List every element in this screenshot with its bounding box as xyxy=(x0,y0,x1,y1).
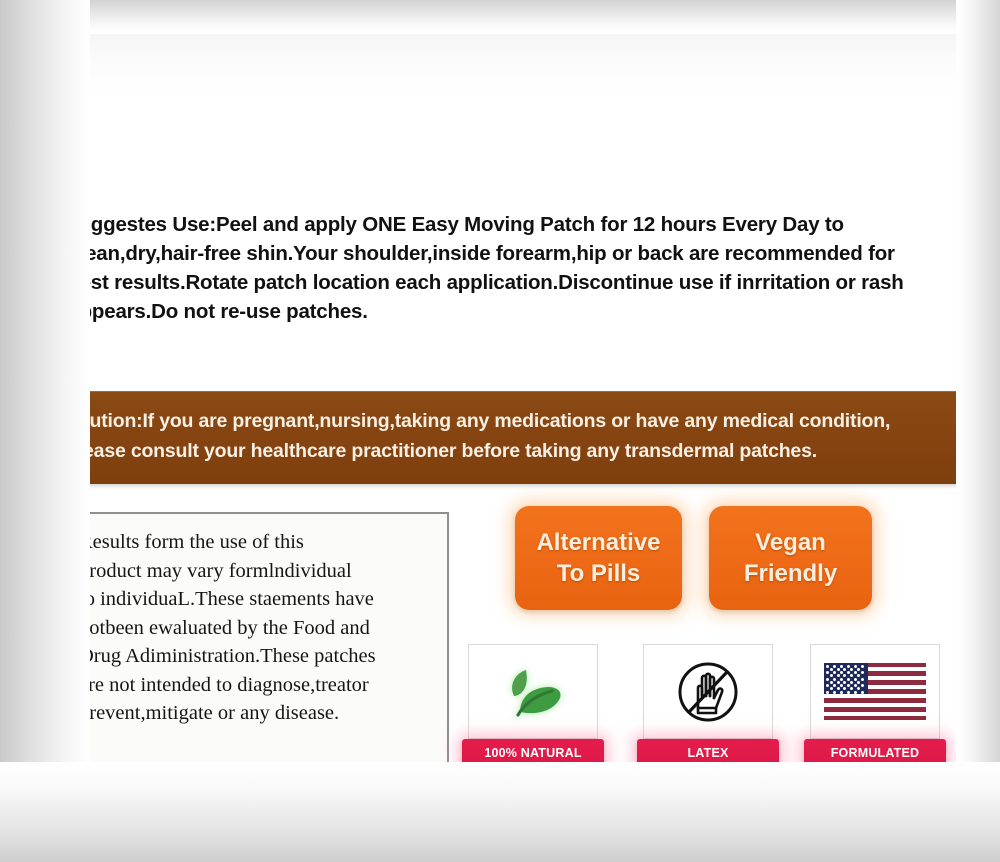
flag-star xyxy=(840,678,843,681)
label-paper: Suggestes Use:Peel and apply ONE Easy Mo… xyxy=(25,24,977,814)
flag-star xyxy=(857,681,860,684)
flag-star xyxy=(826,665,829,668)
flag-star xyxy=(854,691,857,694)
cert-banner-latex-free: LATEX FREE xyxy=(637,739,779,783)
flag-star xyxy=(857,668,860,671)
flag-stripe xyxy=(824,707,926,711)
product-label-photo: Suggestes Use:Peel and apply ONE Easy Mo… xyxy=(0,0,1000,862)
flag-star xyxy=(833,678,836,681)
flag-star xyxy=(833,665,836,668)
flag-star xyxy=(861,691,864,694)
flag-stripe xyxy=(824,716,926,720)
paper-sheen xyxy=(25,24,977,94)
suggested-use-line-1: Suggestes Use:Peel and apply ONE Easy Mo… xyxy=(65,210,955,239)
caution-line-2: Please consult your healthcare practitio… xyxy=(65,436,970,466)
cert-usa-line-2: IN THE USA xyxy=(839,761,912,777)
flag-star xyxy=(833,691,836,694)
flag-star xyxy=(826,684,829,687)
badge-vegan-friendly-line-1: Vegan xyxy=(755,527,826,558)
caution-text: Caution:If you are pregnant,nursing,taki… xyxy=(65,406,970,466)
flag-star xyxy=(843,668,846,671)
flag-star xyxy=(843,674,846,677)
paper-showthrough-ghost-text xyxy=(103,726,403,760)
flag-canton xyxy=(824,663,868,694)
cert-badge-formulated-in-usa: FORMULATED IN THE USA xyxy=(810,644,940,783)
flag-star xyxy=(830,687,833,690)
flag-star xyxy=(847,678,850,681)
caution-line-1: Caution:If you are pregnant,nursing,taki… xyxy=(65,406,970,436)
flag-star xyxy=(854,671,857,674)
flag-star xyxy=(861,671,864,674)
cert-badge-natural-ingredients: 100% NATURAL INGREDIENTS xyxy=(468,644,598,783)
flag-star xyxy=(826,678,829,681)
badge-vegan-friendly: Vegan Friendly xyxy=(709,506,872,610)
flag-star xyxy=(837,674,840,677)
disclaimer-box: Results form the use of this product may… xyxy=(61,512,449,778)
flag-star xyxy=(840,691,843,694)
disclaimer-line-4: notbeen ewaluated by the Food and xyxy=(79,614,439,643)
flag-star xyxy=(826,671,829,674)
flag-star xyxy=(850,668,853,671)
flag-star xyxy=(833,684,836,687)
suggested-use-line-4: Appears.Do not re-use patches. xyxy=(65,297,955,326)
flag-star xyxy=(854,684,857,687)
flag-star xyxy=(843,681,846,684)
flag-star xyxy=(854,665,857,668)
leaf-icon xyxy=(496,662,570,722)
flag-star xyxy=(837,681,840,684)
cert-card-natural-ingredients xyxy=(468,644,598,739)
flag-star xyxy=(830,668,833,671)
cert-banner-formulated-in-usa: FORMULATED IN THE USA xyxy=(804,739,946,783)
flag-star xyxy=(861,684,864,687)
cert-latex-line-2: FREE xyxy=(691,761,725,777)
flag-star xyxy=(840,665,843,668)
flag-star xyxy=(854,678,857,681)
cert-natural-line-2: INGREDIENTS xyxy=(489,761,577,777)
badge-vegan-friendly-line-2: Friendly xyxy=(744,558,837,589)
flag-star xyxy=(837,668,840,671)
flag-star xyxy=(830,681,833,684)
flag-star xyxy=(843,687,846,690)
flag-star xyxy=(847,665,850,668)
no-glove-icon xyxy=(673,658,743,726)
cert-badge-latex-free: LATEX FREE xyxy=(643,644,773,783)
disclaimer-text: Results form the use of this product may… xyxy=(79,528,439,728)
usa-flag-icon xyxy=(824,663,926,721)
flag-stripe xyxy=(824,698,926,702)
flag-star xyxy=(861,678,864,681)
flag-star xyxy=(830,674,833,677)
flag-star xyxy=(850,687,853,690)
flag-star xyxy=(826,691,829,694)
disclaimer-line-1: Results form the use of this xyxy=(79,528,439,557)
flag-star xyxy=(857,687,860,690)
cert-natural-line-1: 100% NATURAL xyxy=(484,745,581,761)
flag-star xyxy=(837,687,840,690)
cert-latex-line-1: LATEX xyxy=(687,745,728,761)
cert-card-latex-free xyxy=(643,644,773,739)
flag-star xyxy=(861,665,864,668)
badge-alternative-to-pills-line-1: Alternative xyxy=(536,527,660,558)
disclaimer-line-3: to individuaL.These staements have xyxy=(79,585,439,614)
cert-usa-line-1: FORMULATED xyxy=(831,745,920,761)
disclaimer-line-5: Drug Adiministration.These patches xyxy=(79,642,439,671)
suggested-use-line-3: Best results.Rotate patch location each … xyxy=(65,268,955,297)
disclaimer-line-2: product may vary formlndividual xyxy=(79,557,439,586)
cert-card-formulated-in-usa xyxy=(810,644,940,739)
suggested-use-line-2: Clean,dry,hair-free shin.Your shoulder,i… xyxy=(65,239,955,268)
flag-star xyxy=(850,681,853,684)
badge-alternative-to-pills: Alternative To Pills xyxy=(515,506,682,610)
cert-banner-natural-ingredients: 100% NATURAL INGREDIENTS xyxy=(462,739,604,783)
disclaimer-line-6: are not intended to diagnose,treator xyxy=(79,671,439,700)
flag-star xyxy=(850,674,853,677)
flag-star xyxy=(833,671,836,674)
suggested-use-text: Suggestes Use:Peel and apply ONE Easy Mo… xyxy=(65,210,955,326)
flag-star xyxy=(847,691,850,694)
caution-band: Caution:If you are pregnant,nursing,taki… xyxy=(25,391,977,484)
badge-alternative-to-pills-line-2: To Pills xyxy=(557,558,641,589)
disclaimer-line-7: prevent,mitigate or any disease. xyxy=(79,699,439,728)
flag-star xyxy=(857,674,860,677)
